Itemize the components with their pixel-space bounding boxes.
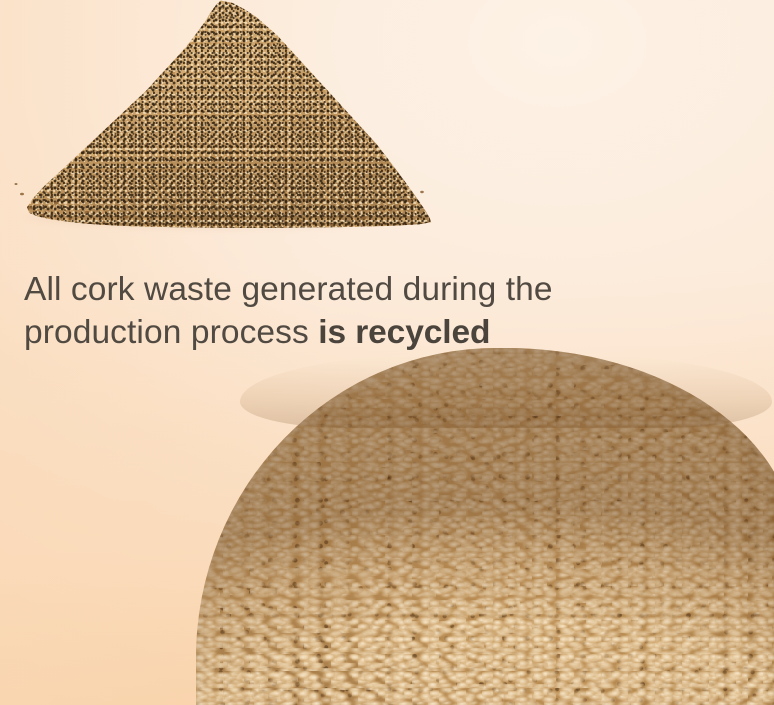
cork-recycling-infographic: All cork waste generated during the prod… [0, 0, 774, 705]
headline-line-1: All cork waste generated during the [24, 271, 553, 308]
headline-emphasis: is recycled [318, 314, 490, 351]
cork-agglomerate-block-image [196, 348, 774, 705]
cork-powder-pile-body [8, 0, 432, 228]
cork-powder-pile-image [8, 0, 432, 236]
headline-text: All cork waste generated during the prod… [24, 268, 684, 354]
cork-agglomerate-block-body [196, 348, 774, 705]
headline-line-2-regular: production process [24, 314, 318, 351]
